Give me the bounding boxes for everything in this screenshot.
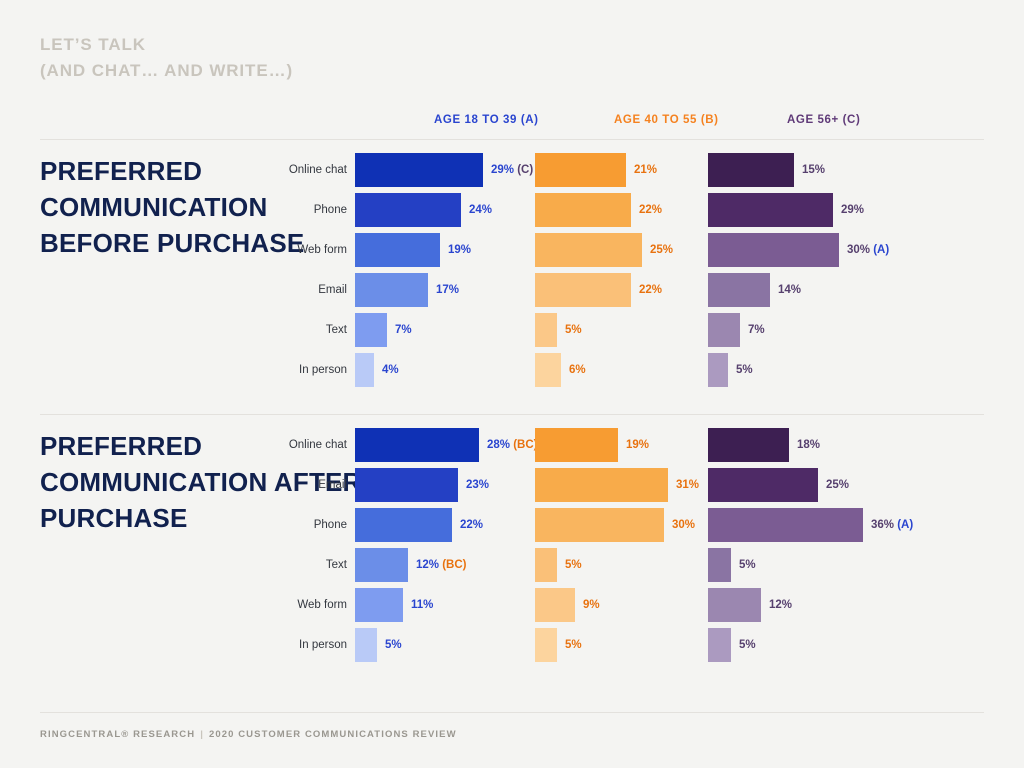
bar-value-label: 4% — [382, 350, 399, 390]
bar — [355, 468, 458, 502]
chart-rows-before-purchase: Online chat29% (C)21%15%Phone24%22%29%We… — [355, 150, 985, 390]
bar — [535, 508, 664, 542]
bar-value-note: (C) — [514, 164, 533, 176]
bar — [708, 353, 728, 387]
bar — [355, 233, 440, 267]
bar — [355, 313, 387, 347]
bar-value-label: 5% — [739, 545, 756, 585]
bar-value-label: 12% (BC) — [416, 545, 467, 585]
chart-rows-after-purchase: Online chat28% (BC)19%18%Email23%31%25%P… — [355, 425, 985, 665]
bar — [535, 468, 668, 502]
bar-value-label: 30% — [672, 505, 695, 545]
bar — [355, 508, 452, 542]
row-category-label: Phone — [253, 505, 347, 545]
bar-value-label: 21% — [634, 150, 657, 190]
bar-value-label: 19% — [626, 425, 649, 465]
bar — [355, 628, 377, 662]
row-category-label: Web form — [253, 585, 347, 625]
bar — [535, 628, 557, 662]
row-category-label: Web form — [253, 230, 347, 270]
bar-value-label: 5% — [565, 625, 582, 665]
bar-value-note: (A) — [870, 244, 889, 256]
bar-value-label: 14% — [778, 270, 801, 310]
bar-value-label: 6% — [569, 350, 586, 390]
row-category-label: Email — [253, 270, 347, 310]
bar-value-label: 15% — [802, 150, 825, 190]
chart-row: Web form19%25%30% (A) — [355, 230, 985, 270]
footer: RINGCENTRAL® RESEARCH|2020 CUSTOMER COMM… — [40, 729, 457, 740]
chart-row: In person5%5%5% — [355, 625, 985, 665]
bar-value-label: 22% — [460, 505, 483, 545]
bar-value-label: 7% — [748, 310, 765, 350]
row-category-label: Text — [253, 310, 347, 350]
kicker-line-1: LET’S TALK — [40, 32, 293, 58]
bar-value-label: 5% — [736, 350, 753, 390]
legend-item-age-56-plus: AGE 56+ (C) — [787, 114, 860, 126]
bar — [355, 428, 479, 462]
bar — [708, 233, 839, 267]
chart-row: In person4%6%5% — [355, 350, 985, 390]
bar — [708, 153, 794, 187]
bar-value-label: 29% — [841, 190, 864, 230]
bar — [708, 468, 818, 502]
bar-value-label: 18% — [797, 425, 820, 465]
row-category-label: Phone — [253, 190, 347, 230]
bar-value-label: 22% — [639, 190, 662, 230]
legend-item-age-18-to-39: AGE 18 TO 39 (A) — [434, 114, 539, 126]
bar — [355, 153, 483, 187]
bar — [708, 428, 789, 462]
bar-value-label: 5% — [385, 625, 402, 665]
bar — [535, 548, 557, 582]
bar — [535, 273, 631, 307]
bar — [535, 193, 631, 227]
bar — [708, 193, 833, 227]
divider-top — [40, 139, 984, 140]
bar-value-label: 23% — [466, 465, 489, 505]
bar — [708, 273, 770, 307]
bar-value-label: 29% (C) — [491, 150, 533, 190]
row-category-label: Online chat — [253, 150, 347, 190]
bar-value-note: (A) — [894, 519, 913, 531]
divider-middle — [40, 414, 984, 415]
chart-row: Online chat29% (C)21%15% — [355, 150, 985, 190]
bar-value-label: 25% — [650, 230, 673, 270]
row-category-label: Online chat — [253, 425, 347, 465]
bar-value-label: 7% — [395, 310, 412, 350]
infographic-page: LET’S TALK (AND CHAT… AND WRITE…) AGE 18… — [0, 0, 1024, 768]
bar-value-label: 5% — [739, 625, 756, 665]
row-category-label: In person — [253, 350, 347, 390]
bar — [535, 313, 557, 347]
chart-row: Web form11%9%12% — [355, 585, 985, 625]
chart-row: Phone22%30%36% (A) — [355, 505, 985, 545]
bar-value-label: 28% (BC) — [487, 425, 538, 465]
bar — [535, 428, 618, 462]
footer-report: 2020 CUSTOMER COMMUNICATIONS REVIEW — [209, 729, 457, 740]
bar-value-label: 11% — [411, 585, 433, 625]
footer-separator: | — [195, 729, 209, 740]
divider-bottom — [40, 712, 984, 713]
row-category-label: Text — [253, 545, 347, 585]
bar — [355, 273, 428, 307]
legend: AGE 18 TO 39 (A) AGE 40 TO 55 (B) AGE 56… — [0, 114, 1024, 134]
bar-value-label: 36% (A) — [871, 505, 913, 545]
bar-value-label: 9% — [583, 585, 600, 625]
bar — [355, 588, 403, 622]
bar-value-label: 19% — [448, 230, 471, 270]
bar-value-label: 25% — [826, 465, 849, 505]
bar-value-label: 17% — [436, 270, 459, 310]
bar — [535, 353, 561, 387]
bar-value-note: (BC) — [510, 439, 537, 451]
chart-row: Text7%5%7% — [355, 310, 985, 350]
bar-value-label: 31% — [676, 465, 699, 505]
chart-row: Email23%31%25% — [355, 465, 985, 505]
row-category-label: In person — [253, 625, 347, 665]
bar-value-label: 22% — [639, 270, 662, 310]
bar — [708, 548, 731, 582]
bar — [355, 548, 408, 582]
chart-row: Phone24%22%29% — [355, 190, 985, 230]
bar-value-label: 5% — [565, 545, 582, 585]
bar-value-label: 30% (A) — [847, 230, 889, 270]
bar — [535, 588, 575, 622]
bar — [355, 353, 374, 387]
chart-row: Text12% (BC)5%5% — [355, 545, 985, 585]
bar-value-label: 24% — [469, 190, 492, 230]
bar — [355, 193, 461, 227]
bar-value-label: 12% — [769, 585, 792, 625]
kicker-line-2: (AND CHAT… AND WRITE…) — [40, 58, 293, 84]
bar — [535, 233, 642, 267]
bar — [708, 628, 731, 662]
bar — [708, 313, 740, 347]
legend-item-age-40-to-55: AGE 40 TO 55 (B) — [614, 114, 719, 126]
chart-row: Email17%22%14% — [355, 270, 985, 310]
bar-value-label: 5% — [565, 310, 582, 350]
row-category-label: Email — [253, 465, 347, 505]
bar — [708, 588, 761, 622]
bar — [535, 153, 626, 187]
footer-brand: RINGCENTRAL® RESEARCH — [40, 729, 195, 740]
bar — [708, 508, 863, 542]
chart-row: Online chat28% (BC)19%18% — [355, 425, 985, 465]
kicker-heading: LET’S TALK (AND CHAT… AND WRITE…) — [40, 32, 293, 83]
bar-value-note: (BC) — [439, 559, 466, 571]
